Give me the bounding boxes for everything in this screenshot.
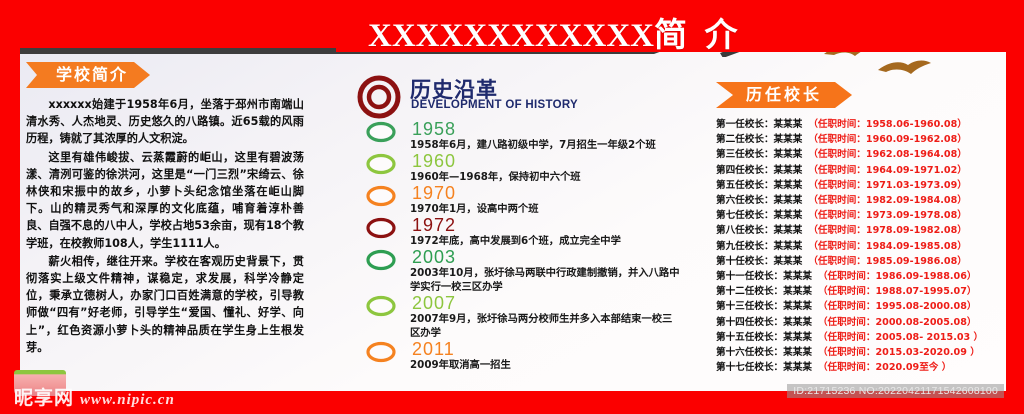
school-intro-body: xxxxxx始建于1958年6月，坐落于邳州市南端山清水秀、人杰地灵、历史悠久的… [26, 96, 304, 356]
timeline-entry: 20032003年10月，张圩徐马两联中行政建制撤销，并入八路中学实行一校三区办… [352, 248, 682, 294]
principal-term: （任职时间：1962.08-1964.08） [808, 147, 967, 162]
principal-term: （任职时间：1984.09-1985.08） [808, 239, 967, 254]
principal-term: （任职时间：1982.09-1984.08） [808, 193, 967, 208]
principal-name: 第六任校长：某某某 [716, 193, 802, 208]
principal-name: 第十一任校长：某某某 [716, 269, 812, 284]
principal-row: 第七任校长：某某某（任职时间：1973.09-1978.08） [716, 208, 1006, 223]
timeline-header: 历史沿革 DEVELOPMENT OF HISTORY [352, 78, 682, 118]
principal-term: （任职时间：1995.08-2000.08） [818, 299, 977, 314]
timeline-description: 2007年9月，张圩徐马两分校师生并多入本部结束一校三区办学 [410, 312, 682, 340]
principal-term: （任职时间：1988.07-1995.07） [818, 284, 977, 299]
principal-name: 第一任校长：某某某 [716, 117, 802, 132]
principal-term: （任职时间：2020.09至今 ） [818, 360, 951, 375]
page-title-cn: 简 介 [654, 15, 741, 54]
timeline-description: 1958年6月，建八路初级中学，7月招生一年级2个班 [410, 138, 682, 152]
bullseye-icon [356, 74, 402, 125]
principal-name: 第十五任校长：某某某 [716, 330, 812, 345]
principal-row: 第五任校长：某某某（任职时间：1971.03-1973.09） [716, 178, 1006, 193]
principals-list: 第一任校长：某某某（任职时间：1958.06-1960.08）第二任校长：某某某… [716, 117, 1006, 375]
principal-term: （任职时间：1985.09-1986.08） [808, 254, 967, 269]
principal-row: 第十五任校长：某某某（任职时间：2005.08- 2015.03 ） [716, 330, 1006, 345]
timeline-entry: 19601960年—1968年，保持初中六个班 [352, 152, 682, 184]
timeline-subtitle: DEVELOPMENT OF HISTORY [411, 99, 578, 111]
principal-row: 第四任校长：某某某（任职时间：1964.09-1971.02） [716, 163, 1006, 178]
principal-term: （任职时间：1960.09-1962.08） [808, 132, 967, 147]
intro-paragraph: 这里有雄伟峻拔、云蒸霞蔚的岠山，这里有碧波荡漾、清洌可鉴的徐洪河，这里是“一门三… [26, 149, 304, 252]
timeline-description: 2003年10月，张圩徐马两联中行政建制撤销，并入八路中学实行一校三区办学 [410, 266, 682, 294]
principal-row: 第十三任校长：某某某（任职时间：1995.08-2000.08） [716, 299, 1006, 314]
principal-row: 第六任校长：某某某（任职时间：1982.09-1984.08） [716, 193, 1006, 208]
poster-canvas: XXXXXXXXXXXX简 介 学校简介 xxxxxx始建于1958年6月，坐落… [0, 0, 1024, 414]
principal-name: 第三任校长：某某某 [716, 147, 802, 162]
principal-name: 第十七任校长：某某某 [716, 360, 812, 375]
principal-row: 第一任校长：某某某（任职时间：1958.06-1960.08） [716, 117, 1006, 132]
timeline-year: 2007 [412, 294, 682, 313]
watermark-url: www.nipic.cn [80, 392, 175, 408]
principals-section: 历任校长 第一任校长：某某某（任职时间：1958.06-1960.08）第二任校… [716, 82, 1006, 375]
timeline-description: 2009年取消高一招生 [410, 358, 682, 372]
timeline-year: 1960 [412, 152, 682, 171]
timeline-description: 1960年—1968年，保持初中六个班 [410, 170, 682, 184]
principal-row: 第八任校长：某某某（任职时间：1978.09-1982.08） [716, 223, 1006, 238]
principal-row: 第十二任校长：某某某（任职时间：1988.07-1995.07） [716, 284, 1006, 299]
principal-name: 第四任校长：某某某 [716, 163, 802, 178]
principal-term: （任职时间：1958.06-1960.08） [808, 117, 967, 132]
principal-term: （任职时间：2005.08- 2015.03 ） [818, 330, 983, 345]
principal-row: 第十任校长：某某某（任职时间：1985.09-1986.08） [716, 254, 1006, 269]
page-title-x: XXXXXXXXXXXX [368, 18, 654, 54]
principal-name: 第十二任校长：某某某 [716, 284, 812, 299]
principal-name: 第五任校长：某某某 [716, 178, 802, 193]
timeline-entry: 19581958年6月，建八路初级中学，7月招生一年级2个班 [352, 120, 682, 152]
bird-icon [878, 61, 931, 74]
watermark-brand: 昵享网 [14, 387, 74, 409]
principal-name: 第十三任校长：某某某 [716, 299, 812, 314]
timeline-year: 1970 [412, 184, 682, 203]
timeline-description: 1970年1月，设高中两个班 [410, 202, 682, 216]
principal-term: （任职时间：1964.09-1971.02） [808, 163, 967, 178]
school-intro-section: 学校简介 xxxxxx始建于1958年6月，坐落于邳州市南端山清水秀、人杰地灵、… [26, 62, 304, 357]
intro-paragraph: xxxxxx始建于1958年6月，坐落于邳州市南端山清水秀、人杰地灵、历史悠久的… [26, 96, 304, 148]
principal-row: 第十六任校长：某某某（任职时间：2015.03-2020.09 ） [716, 345, 1006, 360]
principal-name: 第八任校长：某某某 [716, 223, 802, 238]
page-title: XXXXXXXXXXXX简 介 [368, 8, 740, 56]
timeline-description: 1972年底，高中发展到6个班，成立完全中学 [410, 234, 682, 248]
principal-name: 第二任校长：某某某 [716, 132, 802, 147]
principal-term: （任职时间：1978.09-1982.08） [808, 223, 967, 238]
principal-row: 第二任校长：某某某（任职时间：1960.09-1962.08） [716, 132, 1006, 147]
timeline-year: 2011 [412, 340, 682, 359]
site-watermark: 昵享网www.nipic.cn [14, 383, 175, 410]
timeline-year: 2003 [412, 248, 682, 267]
principal-name: 第十四任校长：某某某 [716, 315, 812, 330]
principal-term: （任职时间：2015.03-2020.09 ） [818, 345, 980, 360]
principal-term: （任职时间：1986.09-1988.06） [818, 269, 977, 284]
principal-term: （任职时间：1971.03-1973.09） [808, 178, 967, 193]
principal-name: 第九任校长：某某某 [716, 239, 802, 254]
principal-name: 第十六任校长：某某某 [716, 345, 812, 360]
timeline-entry: 20112009年取消高一招生 [352, 340, 682, 372]
principal-row: 第十一任校长：某某某（任职时间：1986.09-1988.06） [716, 269, 1006, 284]
timeline-entry: 20072007年9月，张圩徐马两分校师生并多入本部结束一校三区办学 [352, 294, 682, 340]
timeline-year: 1958 [412, 120, 682, 139]
principal-term: （任职时间：1973.09-1978.08） [808, 208, 967, 223]
timeline-entry-list: 19581958年6月，建八路初级中学，7月招生一年级2个班19601960年—… [352, 120, 682, 372]
principal-row: 第三任校长：某某某（任职时间：1962.08-1964.08） [716, 147, 1006, 162]
timeline-entry: 19721972年底，高中发展到6个班，成立完全中学 [352, 216, 682, 248]
intro-paragraph: 薪火相传，继往开来。学校在客观历史背景下，贯彻落实上级文件精神，谋稳定，求发展，… [26, 253, 304, 356]
timeline-entry: 19701970年1月，设高中两个班 [352, 184, 682, 216]
principal-row: 第九任校长：某某某（任职时间：1984.09-1985.08） [716, 239, 1006, 254]
principal-name: 第七任校长：某某某 [716, 208, 802, 223]
image-id-watermark: ID:21715236 NO:20220421171542608100 [787, 384, 1004, 398]
principal-name: 第十任校长：某某某 [716, 254, 802, 269]
school-intro-ribbon: 学校简介 [26, 62, 150, 88]
history-timeline-section: 历史沿革 DEVELOPMENT OF HISTORY 19581958年6月，… [352, 78, 682, 372]
principal-term: （任职时间：2000.08-2005.08） [818, 315, 977, 330]
principal-row: 第十四任校长：某某某（任职时间：2000.08-2005.08） [716, 315, 1006, 330]
principal-row: 第十七任校长：某某某（任职时间：2020.09至今 ） [716, 360, 1006, 375]
timeline-year: 1972 [412, 216, 682, 235]
